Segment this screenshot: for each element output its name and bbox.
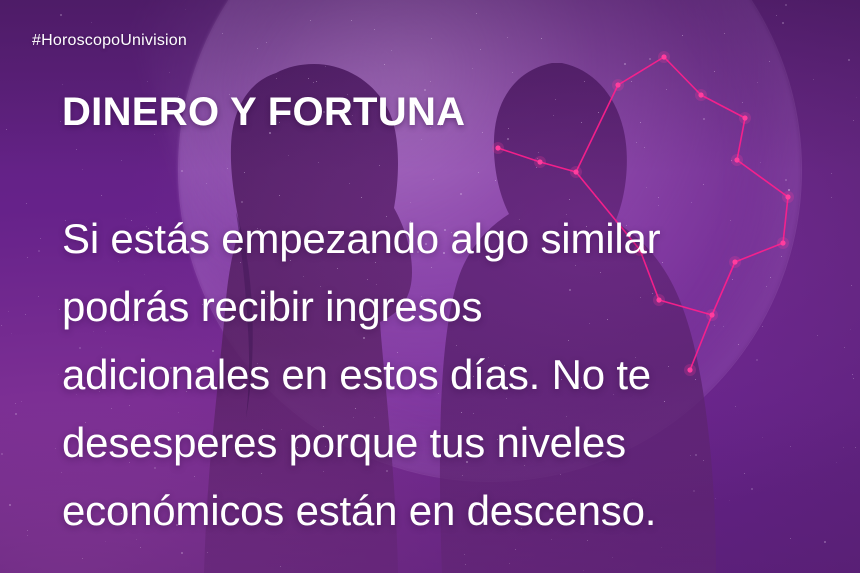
- constellation-star: [495, 145, 500, 150]
- constellation-star: [615, 82, 620, 87]
- constellation-star: [537, 159, 542, 164]
- constellation-edge: [737, 160, 788, 197]
- constellation-edge: [737, 118, 745, 160]
- body-text-line: Si estás empezando algo similar: [62, 205, 822, 273]
- hashtag-label: #HoroscopoUnivision: [32, 32, 187, 50]
- constellation-edge: [576, 85, 618, 172]
- page-title: DINERO Y FORTUNA: [62, 90, 465, 135]
- constellation-star: [785, 194, 790, 199]
- constellation-star: [661, 54, 666, 59]
- constellation-edge: [498, 148, 540, 162]
- constellation-edge: [701, 95, 745, 118]
- constellation-star: [698, 92, 703, 97]
- horoscope-body-text: Si estás empezando algo similarpodrás re…: [62, 205, 822, 545]
- constellation-star: [734, 157, 739, 162]
- constellation-edge: [664, 57, 701, 95]
- body-text-line: adicionales en estos días. No te: [62, 341, 822, 409]
- constellation-star: [573, 169, 578, 174]
- body-text-line: desesperes porque tus niveles: [62, 409, 822, 477]
- constellation-star: [742, 115, 747, 120]
- horoscope-card: #HoroscopoUnivision DINERO Y FORTUNA Si …: [0, 0, 860, 573]
- body-text-line: podrás recibir ingresos: [62, 273, 822, 341]
- constellation-edge: [618, 57, 664, 85]
- body-text-line: económicos están en descenso.: [62, 477, 822, 545]
